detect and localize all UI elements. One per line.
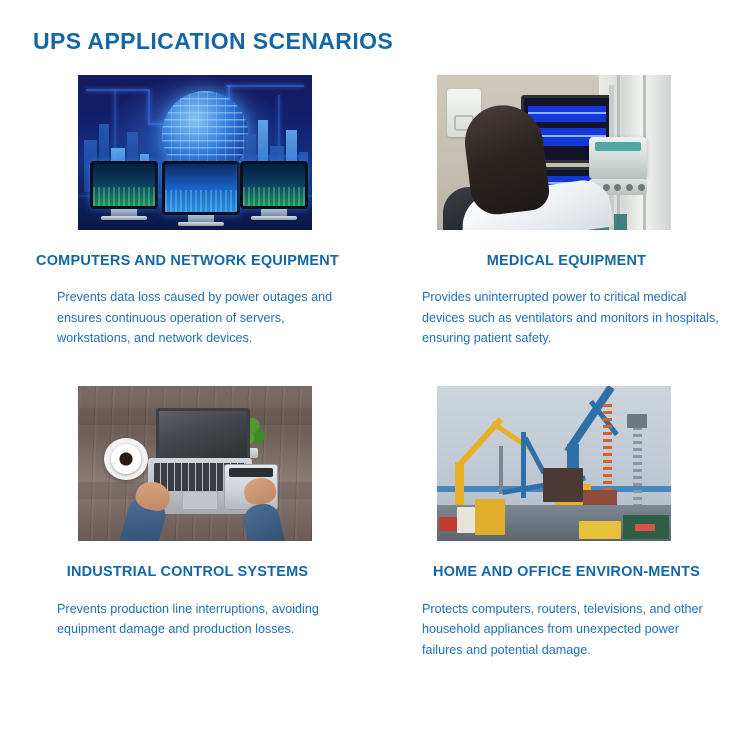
card-body: Provides uninterrupted power to critical… [422,287,720,348]
card-title: HOME AND OFFICE ENVIRON-MENTS [411,563,722,582]
card-body: Protects computers, routers, televisions… [422,599,720,660]
laptop-screen [156,408,250,461]
monitor-left [90,161,158,220]
home-office-photo [437,386,671,541]
grey-mast [499,446,503,494]
yellow-container [579,521,621,539]
tower-light-rig [627,414,647,428]
card-title: MEDICAL EQUIPMENT [411,252,722,271]
card-home-and-office-environments: HOME AND OFFICE ENVIRON-MENTS Protects c… [375,386,750,659]
computers-network-photo [78,75,312,230]
card-title: COMPUTERS AND NETWORK EQUIPMENT [35,252,340,271]
card-title: INDUSTRIAL CONTROL SYSTEMS [35,563,340,582]
grey-lattice-tower [633,420,642,516]
card-medical-equipment: MEDICAL EQUIPMENT Provides uninterrupted… [375,75,750,348]
medical-equipment-photo [437,75,671,230]
white-silo [457,507,475,533]
red-container [439,517,457,531]
dark-shed [543,468,583,502]
left-column: COMPUTERS AND NETWORK EQUIPMENT Prevents… [0,75,375,640]
container-sign [635,524,655,531]
patient-monitor-unit [589,137,647,179]
yellow-tank [475,499,505,535]
page-title: UPS APPLICATION SCENARIOS [33,28,393,55]
card-industrial-control-systems: INDUSTRIAL CONTROL SYSTEMS Prevents prod… [0,386,375,639]
ups-application-scenarios-page: UPS APPLICATION SCENARIOS [0,0,750,750]
card-body: Prevents production line interruptions, … [57,599,335,640]
monitor-center [162,161,240,226]
monitor-right [240,161,308,220]
card-computers-and-network-equipment: COMPUTERS AND NETWORK EQUIPMENT Prevents… [0,75,375,348]
laptop-trackpad [182,491,218,510]
card-body: Prevents data loss caused by power outag… [57,287,335,348]
industrial-control-photo [78,386,312,541]
right-column: MEDICAL EQUIPMENT Provides uninterrupted… [375,75,750,660]
